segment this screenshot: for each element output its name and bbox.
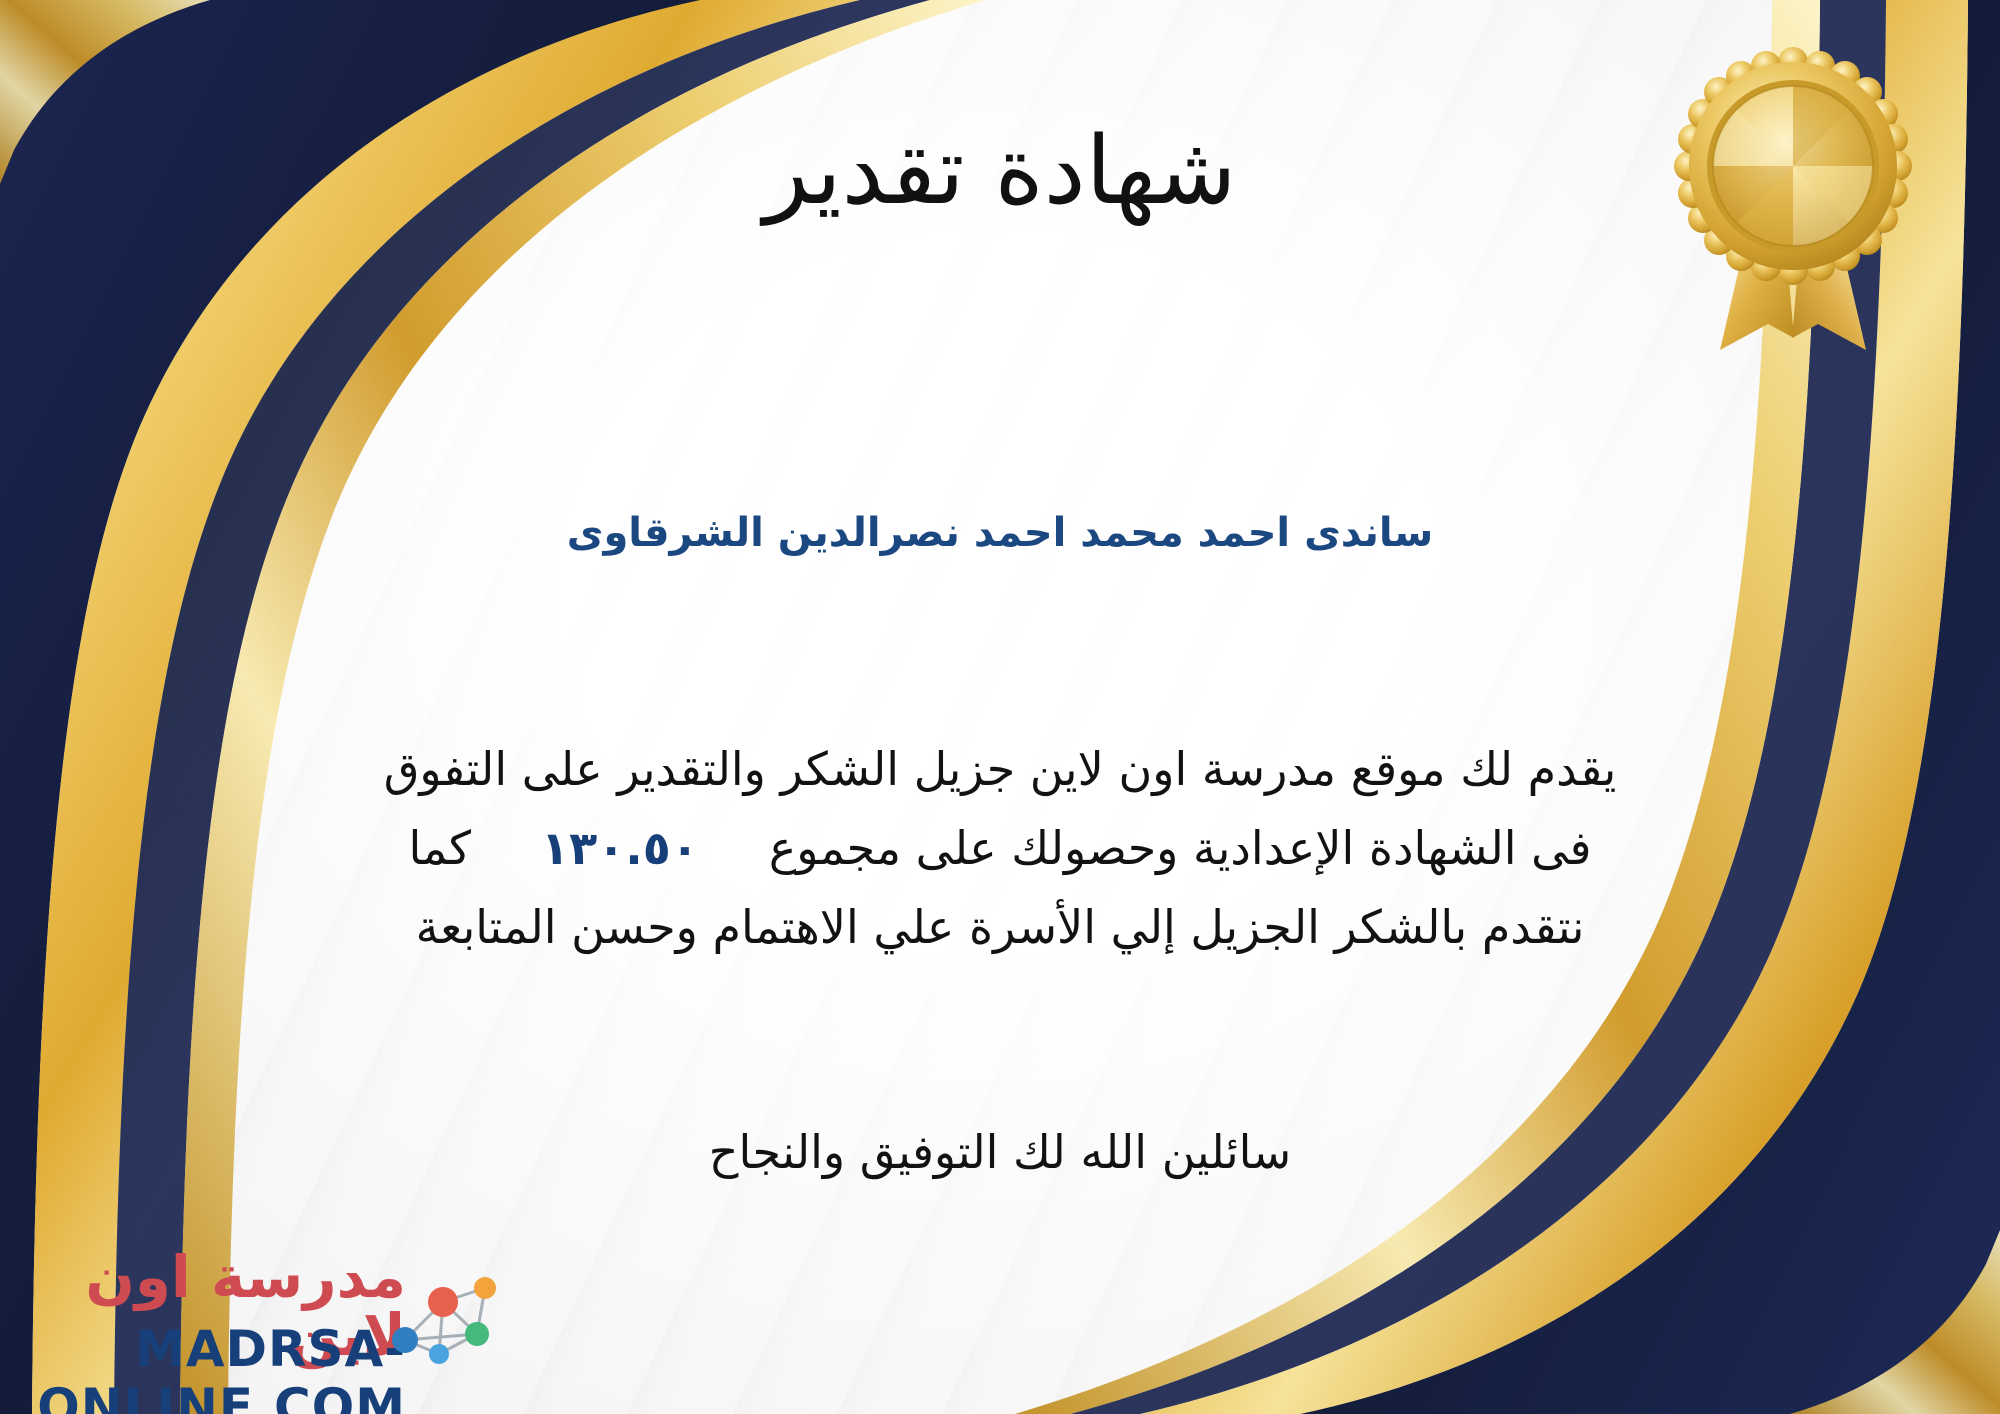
body-line-2-suffix: كما bbox=[408, 821, 471, 875]
brand-logo[interactable]: مدرسة اون لاين MADRSA-ONLINE.COM bbox=[26, 1248, 586, 1388]
recipient-name: ساندى احمد محمد احمد نصرالدين الشرقاوى bbox=[0, 510, 2000, 556]
body-line-1: يقدم لك موقع مدرسة اون لاين جزيل الشكر و… bbox=[170, 730, 1830, 809]
body-line-2-prefix: فى الشهادة الإعدادية وحصولك على مجموع bbox=[769, 821, 1592, 875]
grade-total-value: ١٣٠.٥٠ bbox=[541, 821, 699, 875]
network-nodes-icon bbox=[381, 1258, 516, 1378]
certificate-body: يقدم لك موقع مدرسة اون لاين جزيل الشكر و… bbox=[170, 730, 1830, 967]
body-line-3: نتقدم بالشكر الجزيل إلي الأسرة علي الاهت… bbox=[170, 888, 1830, 967]
certificate-title: شهادة تقدير bbox=[0, 120, 2000, 223]
closing-line: سائلين الله لك التوفيق والنجاح bbox=[0, 1125, 2000, 1179]
body-line-2: فى الشهادة الإعدادية وحصولك على مجموع١٣٠… bbox=[170, 809, 1830, 888]
brand-website: MADRSA-ONLINE.COM bbox=[36, 1320, 406, 1414]
certificate-canvas: شهادة تقدير ساندى احمد محمد احمد نصرالدي… bbox=[0, 0, 2000, 1414]
